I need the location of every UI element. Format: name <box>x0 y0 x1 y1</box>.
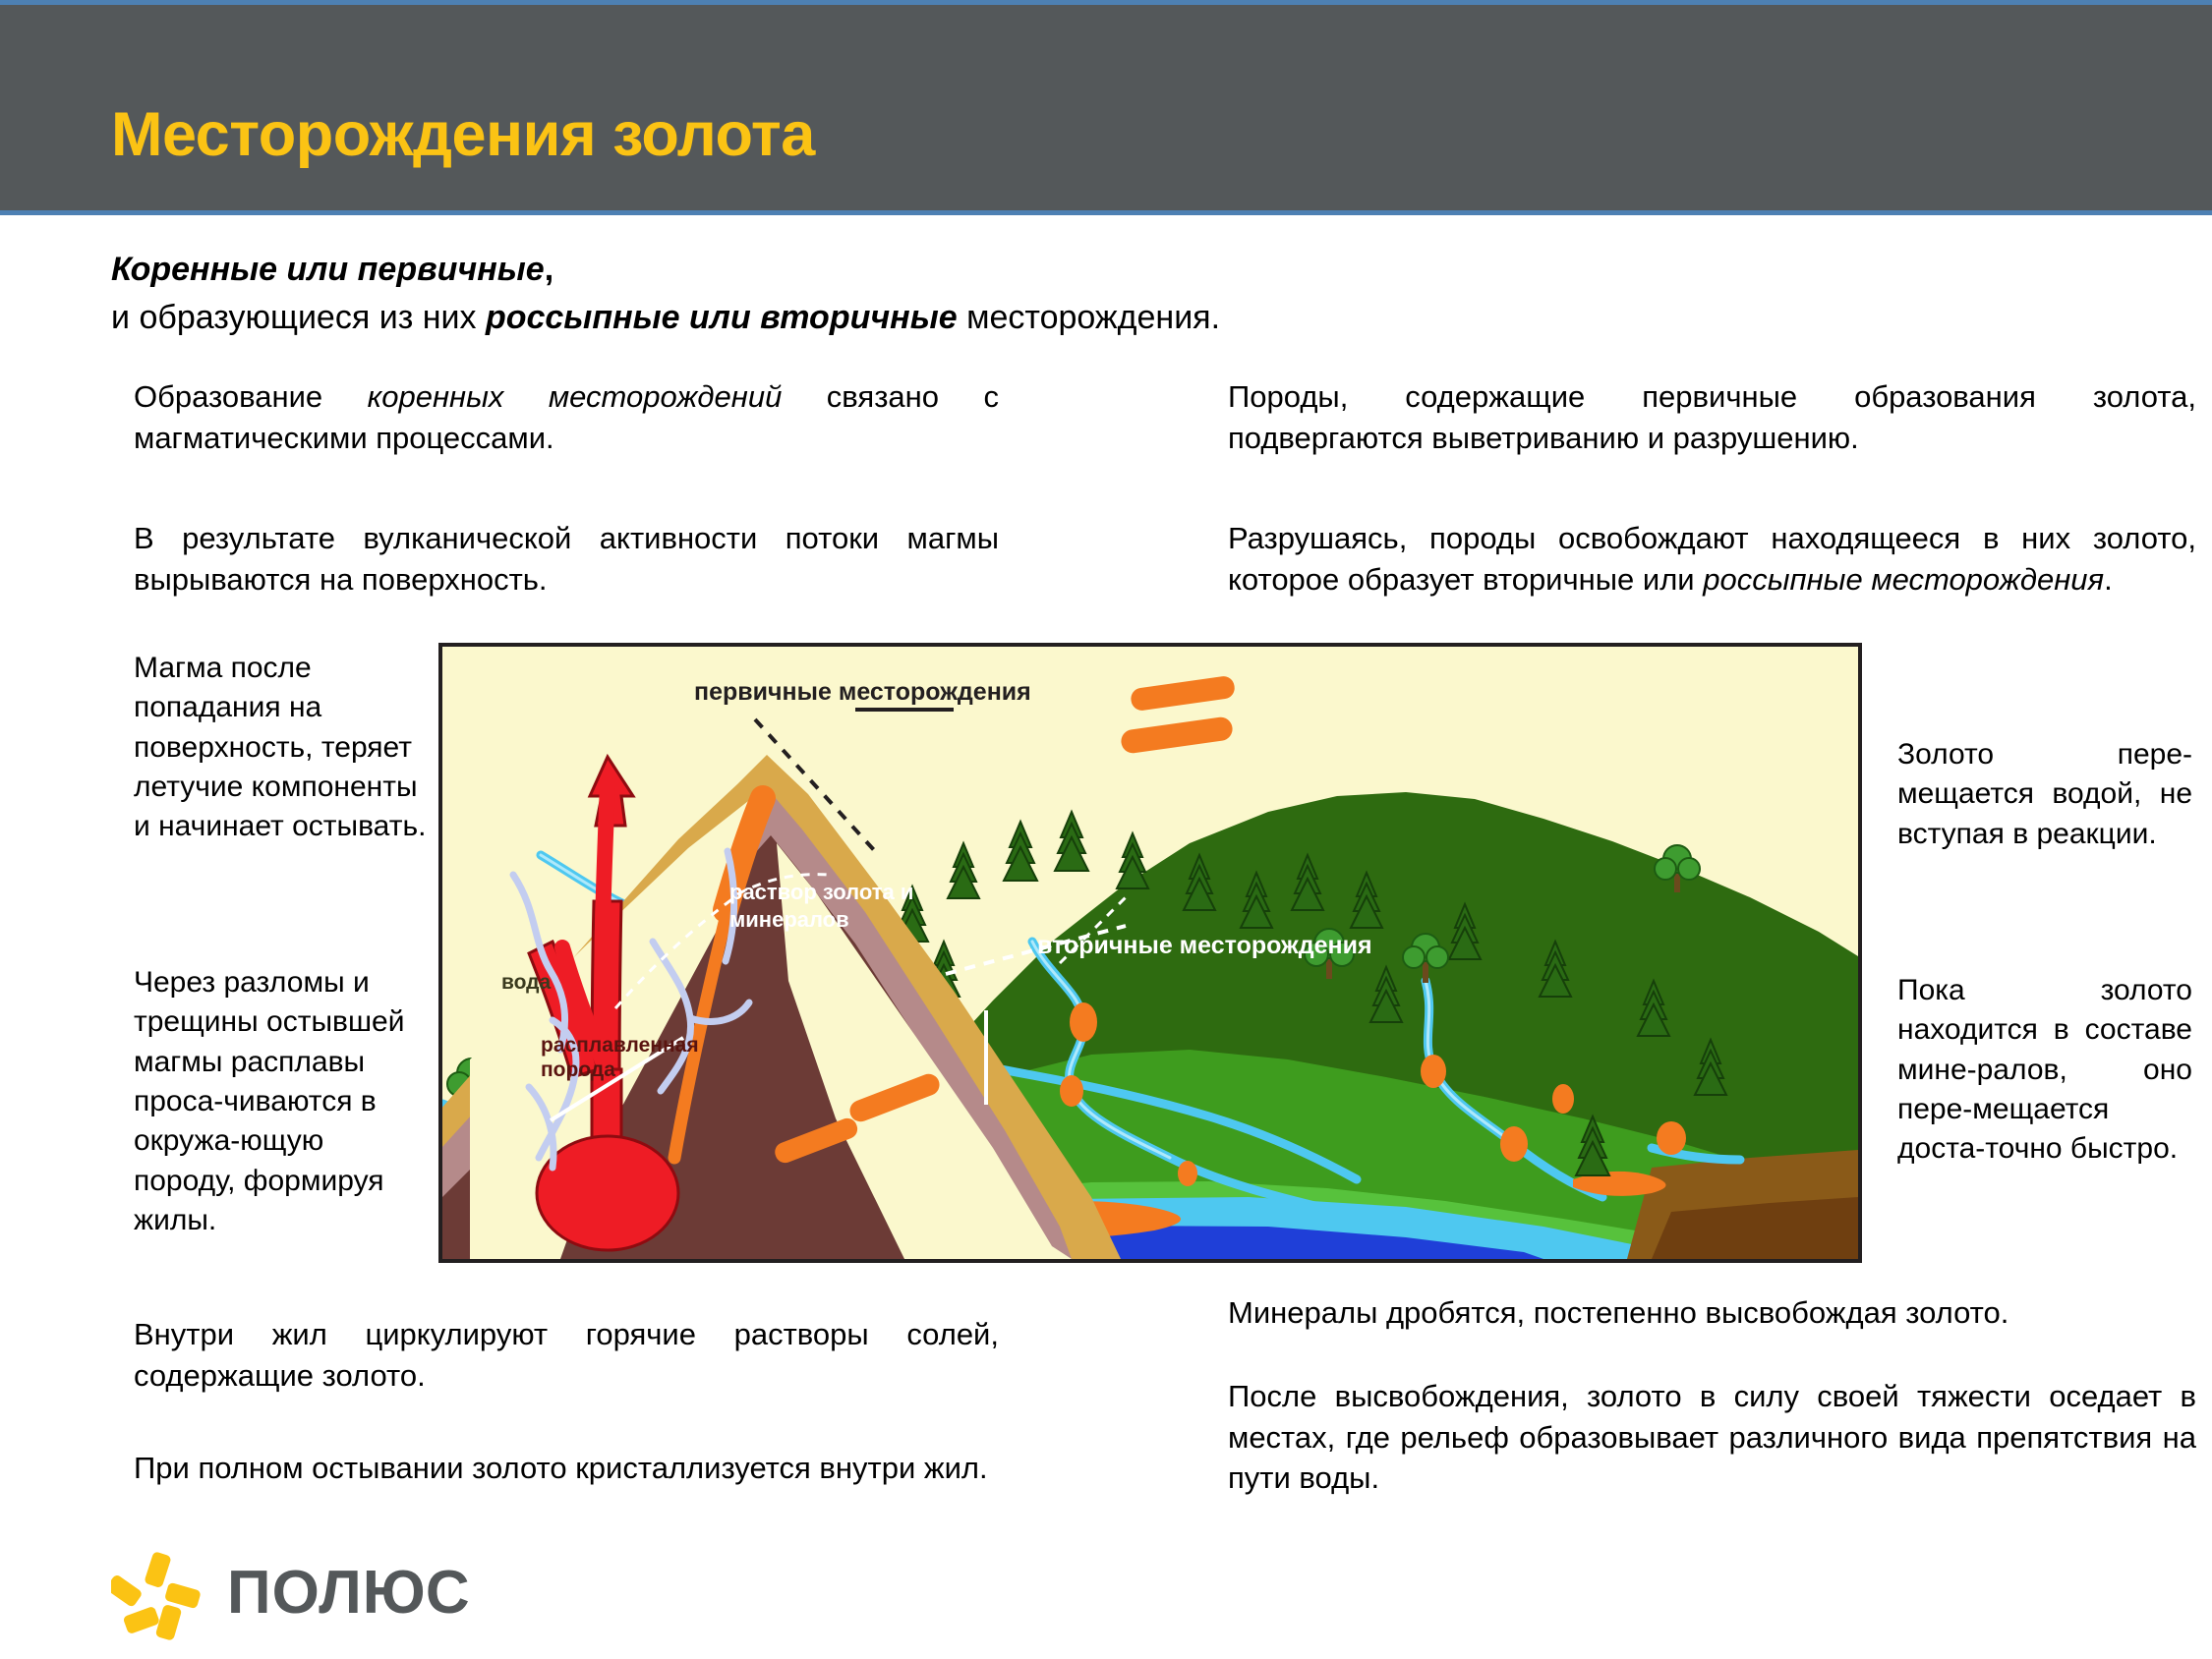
brand-logo: ПОЛЮС <box>111 1551 445 1641</box>
side-note-right-1: Золото пере-мещается водой, не вступая в… <box>1897 735 2192 854</box>
paragraph-right-4: После высвобождения, золото в силу своей… <box>1228 1376 2196 1499</box>
intro-line-2: и образующиеся из них россыпные или втор… <box>111 296 2097 340</box>
paragraph-left-4: При полном остывании золото кристаллизуе… <box>134 1448 999 1489</box>
intro-block: Коренные или первичные, и образующиеся и… <box>111 248 2097 340</box>
intro-line-1: Коренные или первичные, <box>111 248 2097 292</box>
diagram-illustration <box>442 647 1858 1259</box>
paragraph-left-1-italic: коренных месторождений <box>368 379 783 414</box>
paragraph-right-3: Минералы дробятся, постепенно высвобожда… <box>1228 1292 2196 1334</box>
header-band: Месторождения золота <box>0 0 2212 215</box>
paragraph-left-3: Внутри жил циркулируют горячие растворы … <box>134 1314 999 1396</box>
paragraph-left-1-a: Образование <box>134 379 368 414</box>
paragraph-left-2: В результате вулканической активности по… <box>134 518 999 600</box>
intro-line-1-bold: Коренные или первичные <box>111 251 545 288</box>
paragraph-right-1: Породы, содержащие первичные образования… <box>1228 376 2196 458</box>
paragraph-right-2-b: . <box>2104 562 2113 597</box>
intro-line-2-suffix: месторождения. <box>958 299 1220 336</box>
intro-line-1-tail: , <box>545 251 553 288</box>
paragraph-left-1: Образование коренных месторождений связа… <box>134 376 999 458</box>
paragraph-right-2-italic: россыпные месторождения <box>1703 562 2104 597</box>
gold-deposit-diagram: первичные месторождения вторичные местор… <box>438 643 1862 1263</box>
side-note-right-2: Пока золото находится в составе мине-рал… <box>1897 971 2192 1170</box>
intro-line-2-prefix: и образующиеся из них <box>111 299 486 336</box>
side-note-left-1: Магма после попадания на поверхность, те… <box>134 649 429 847</box>
polyus-pinwheel-icon <box>111 1551 202 1641</box>
intro-line-2-bold: россыпные или вторичные <box>486 299 958 336</box>
brand-logo-wordmark: ПОЛЮС <box>227 1563 471 1624</box>
side-note-left-2: Через разломы и трещины остывшей магмы р… <box>134 963 429 1240</box>
page-title: Месторождения золота <box>111 104 815 166</box>
paragraph-right-2: Разрушаясь, породы освобождают находящее… <box>1228 518 2196 600</box>
